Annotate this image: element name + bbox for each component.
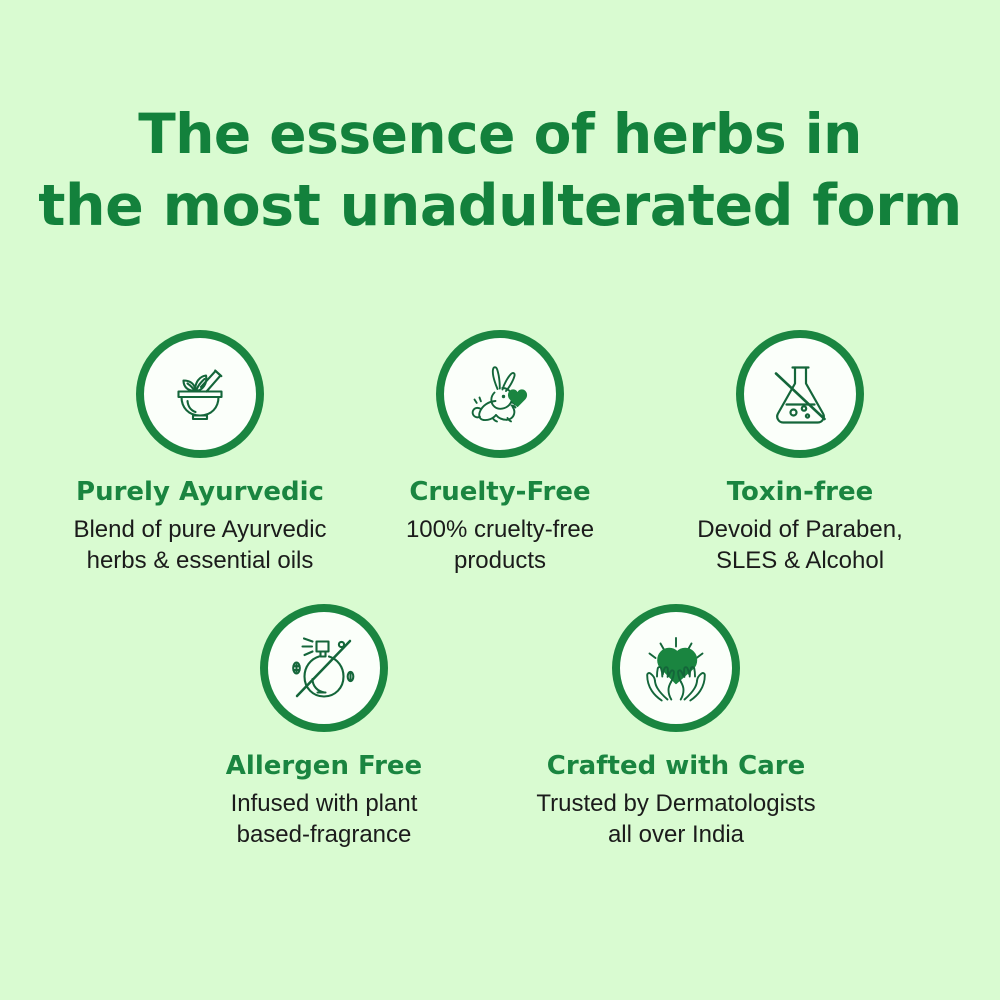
feature-row-bottom: Allergen Free Infused with plant based-f… xyxy=(0,604,1000,850)
feature-description-line-1: Blend of pure Ayurvedic xyxy=(73,514,326,545)
feature-allergen-free: Allergen Free Infused with plant based-f… xyxy=(148,604,500,850)
feature-title: Allergen Free xyxy=(226,751,422,781)
feature-row-top: Purely Ayurvedic Blend of pure Ayurvedic… xyxy=(0,330,1000,576)
feature-icon-badge xyxy=(612,604,740,732)
feature-description: 100% cruelty-free products xyxy=(406,514,594,576)
page-title-line-2: the most unadulterated form xyxy=(0,170,1000,242)
feature-cruelty-free: Cruelty-Free 100% cruelty-free products xyxy=(350,330,650,576)
feature-title: Purely Ayurvedic xyxy=(76,477,324,507)
feature-description-line-1: Infused with plant xyxy=(231,788,418,819)
feature-description-line-2: herbs & essential oils xyxy=(73,545,326,576)
no-fragrance-bottle-icon xyxy=(283,629,365,707)
feature-description-line-1: Devoid of Paraben, xyxy=(697,514,902,545)
feature-title: Crafted with Care xyxy=(547,751,806,781)
feature-description: Blend of pure Ayurvedic herbs & essentia… xyxy=(73,514,326,576)
page-title: The essence of herbs in the most unadult… xyxy=(0,98,1000,242)
feature-description-line-2: based-fragrance xyxy=(231,819,418,850)
feature-title: Toxin-free xyxy=(727,477,874,507)
feature-icon-badge xyxy=(436,330,564,458)
feature-icon-badge xyxy=(260,604,388,732)
feature-description-line-1: Trusted by Dermatologists xyxy=(536,788,815,819)
feature-description-line-1: 100% cruelty-free xyxy=(406,514,594,545)
feature-description: Trusted by Dermatologists all over India xyxy=(536,788,815,850)
feature-toxin-free: Toxin-free Devoid of Paraben, SLES & Alc… xyxy=(650,330,950,576)
feature-description: Infused with plant based-fragrance xyxy=(231,788,418,850)
feature-icon-badge xyxy=(736,330,864,458)
feature-description-line-2: SLES & Alcohol xyxy=(697,545,902,576)
brand-benefits-poster: The essence of herbs in the most unadult… xyxy=(0,0,1000,1000)
feature-icon-badge xyxy=(136,330,264,458)
mortar-and-pestle-icon xyxy=(162,356,238,432)
rabbit-heart-icon xyxy=(460,356,540,432)
feature-purely-ayurvedic: Purely Ayurvedic Blend of pure Ayurvedic… xyxy=(50,330,350,576)
hands-holding-heart-icon xyxy=(636,630,716,706)
feature-description: Devoid of Paraben, SLES & Alcohol xyxy=(697,514,902,576)
feature-description-line-2: products xyxy=(406,545,594,576)
feature-crafted-with-care: Crafted with Care Trusted by Dermatologi… xyxy=(500,604,852,850)
feature-title: Cruelty-Free xyxy=(409,477,590,507)
feature-description-line-2: all over India xyxy=(536,819,815,850)
no-chemical-flask-icon xyxy=(763,356,837,432)
feature-grid: Purely Ayurvedic Blend of pure Ayurvedic… xyxy=(0,330,1000,850)
page-title-line-1: The essence of herbs in xyxy=(0,98,1000,170)
